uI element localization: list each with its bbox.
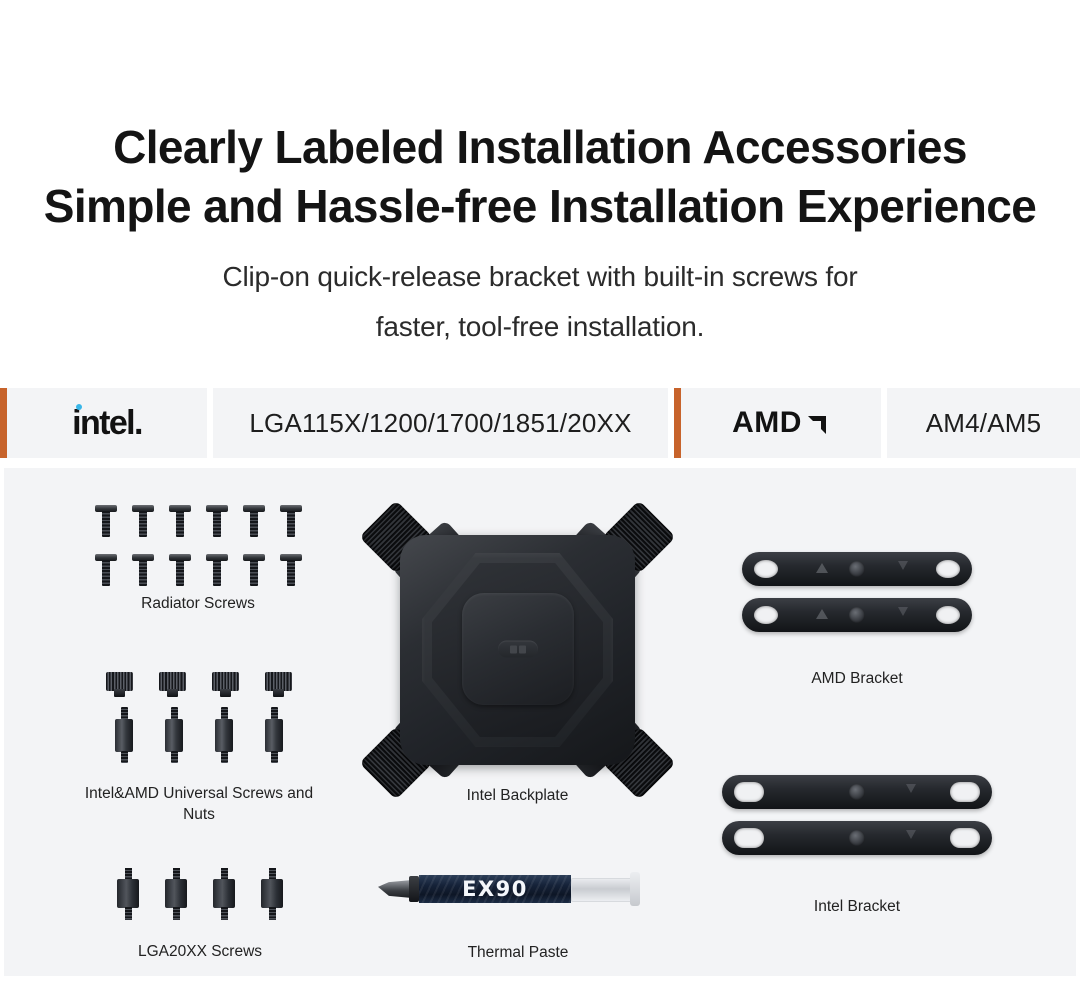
radiator-screw bbox=[95, 505, 117, 541]
intel-accent-bar bbox=[0, 388, 7, 458]
amd-bracket-label: AMD Bracket bbox=[742, 668, 972, 689]
headline-line-1: Clearly Labeled Installation Accessories bbox=[0, 118, 1080, 177]
universal-screws-label: Intel&AMD Universal Screws and Nuts bbox=[84, 783, 314, 825]
thumb-nut bbox=[159, 672, 186, 698]
product-info-graphic: Clearly Labeled Installation Accessories… bbox=[0, 0, 1080, 984]
backplate-body bbox=[400, 535, 635, 765]
radiator-screws-label-wrap: Radiator Screws bbox=[88, 593, 308, 614]
thumb-nut bbox=[212, 672, 239, 698]
lga20xx-standoff bbox=[163, 868, 189, 920]
subheadline-block: Clip-on quick-release bracket with built… bbox=[0, 252, 1080, 352]
intel-socket-cell: LGA115X/1200/1700/1851/20XX bbox=[213, 388, 668, 458]
universal-post bbox=[162, 707, 186, 763]
headline-block: Clearly Labeled Installation Accessories… bbox=[0, 118, 1080, 236]
backplate-center-plate bbox=[462, 593, 574, 705]
paste-flange bbox=[630, 872, 640, 906]
amd-bracket bbox=[742, 598, 972, 632]
radiator-screw bbox=[132, 505, 154, 541]
paste-brand-text: EX90 bbox=[462, 877, 528, 901]
lga20xx-standoff bbox=[259, 868, 285, 920]
intel-backplate-image bbox=[370, 505, 665, 795]
paste-nozzle bbox=[378, 880, 412, 898]
intel-backplate-label: Intel Backplate bbox=[370, 785, 665, 806]
lga20xx-standoff bbox=[211, 868, 237, 920]
intel-logo-dot bbox=[76, 404, 82, 410]
amd-logo-text: AMD bbox=[732, 408, 802, 438]
standoff-row bbox=[112, 868, 288, 920]
amd-bracket bbox=[742, 552, 972, 586]
paste-tube: EX90 bbox=[419, 875, 571, 903]
subheadline-line-2: faster, tool-free installation. bbox=[0, 302, 1080, 352]
lga20xx-standoff bbox=[115, 868, 141, 920]
amd-accent-bar bbox=[674, 388, 681, 458]
screw-row bbox=[95, 554, 302, 590]
thumb-nut bbox=[106, 672, 133, 698]
radiator-screw bbox=[243, 554, 265, 590]
nut-row bbox=[86, 672, 312, 698]
radiator-screw bbox=[132, 554, 154, 590]
amd-arrow-icon bbox=[804, 410, 830, 436]
amd-bracket-label-wrap: AMD Bracket bbox=[742, 668, 972, 689]
amd-logo: AMD bbox=[732, 408, 830, 438]
radiator-screws-label: Radiator Screws bbox=[88, 593, 308, 614]
intel-logo: intel. bbox=[72, 406, 142, 440]
radiator-screw bbox=[280, 554, 302, 590]
radiator-screw bbox=[243, 505, 265, 541]
paste-plunger bbox=[571, 878, 635, 902]
intel-backplate-group bbox=[370, 505, 665, 795]
lga20xx-screws-label: LGA20XX Screws bbox=[108, 941, 292, 962]
paste-collar bbox=[409, 876, 419, 902]
intel-logo-period: . bbox=[134, 404, 142, 442]
radiator-screw bbox=[280, 505, 302, 541]
universal-post bbox=[112, 707, 136, 763]
intel-socket-list: LGA115X/1200/1700/1851/20XX bbox=[249, 408, 631, 439]
radiator-screw bbox=[206, 505, 228, 541]
universal-post bbox=[212, 707, 236, 763]
amd-logo-cell: AMD bbox=[681, 388, 881, 458]
intel-bracket-label-wrap: Intel Bracket bbox=[722, 896, 992, 917]
universal-screws-group bbox=[86, 672, 312, 763]
backplate-brand-logo-icon bbox=[498, 641, 538, 658]
thermal-paste-label: Thermal Paste bbox=[378, 942, 658, 963]
intel-logo-cell: intel. bbox=[7, 388, 207, 458]
intel-logo-text: intel bbox=[72, 404, 134, 442]
radiator-screws-group bbox=[88, 505, 308, 590]
intel-backplate-label-wrap: Intel Backplate bbox=[370, 785, 665, 806]
radiator-screw bbox=[206, 554, 228, 590]
intel-bracket-group bbox=[722, 775, 992, 867]
lga20xx-label-wrap: LGA20XX Screws bbox=[108, 941, 292, 962]
screw-row bbox=[95, 505, 302, 541]
intel-bracket-label: Intel Bracket bbox=[722, 896, 992, 917]
universal-post bbox=[262, 707, 286, 763]
universal-screws-label-wrap: Intel&AMD Universal Screws and Nuts bbox=[84, 783, 314, 825]
headline-line-2: Simple and Hassle-free Installation Expe… bbox=[0, 177, 1080, 236]
thumb-nut bbox=[265, 672, 292, 698]
radiator-screw bbox=[169, 505, 191, 541]
subheadline-line-1: Clip-on quick-release bracket with built… bbox=[0, 252, 1080, 302]
lga20xx-screws-group bbox=[112, 868, 288, 920]
intel-bracket bbox=[722, 821, 992, 855]
amd-bracket-group bbox=[742, 552, 972, 644]
post-row bbox=[86, 707, 312, 763]
thermal-paste-label-wrap: Thermal Paste bbox=[378, 942, 658, 963]
amd-socket-list: AM4/AM5 bbox=[926, 408, 1042, 439]
thermal-paste-group: EX90 bbox=[378, 866, 658, 914]
intel-bracket bbox=[722, 775, 992, 809]
radiator-screw bbox=[95, 554, 117, 590]
amd-socket-cell: AM4/AM5 bbox=[887, 388, 1080, 458]
compatibility-bar: intel. LGA115X/1200/1700/1851/20XX AMD A… bbox=[0, 388, 1080, 458]
radiator-screw bbox=[169, 554, 191, 590]
